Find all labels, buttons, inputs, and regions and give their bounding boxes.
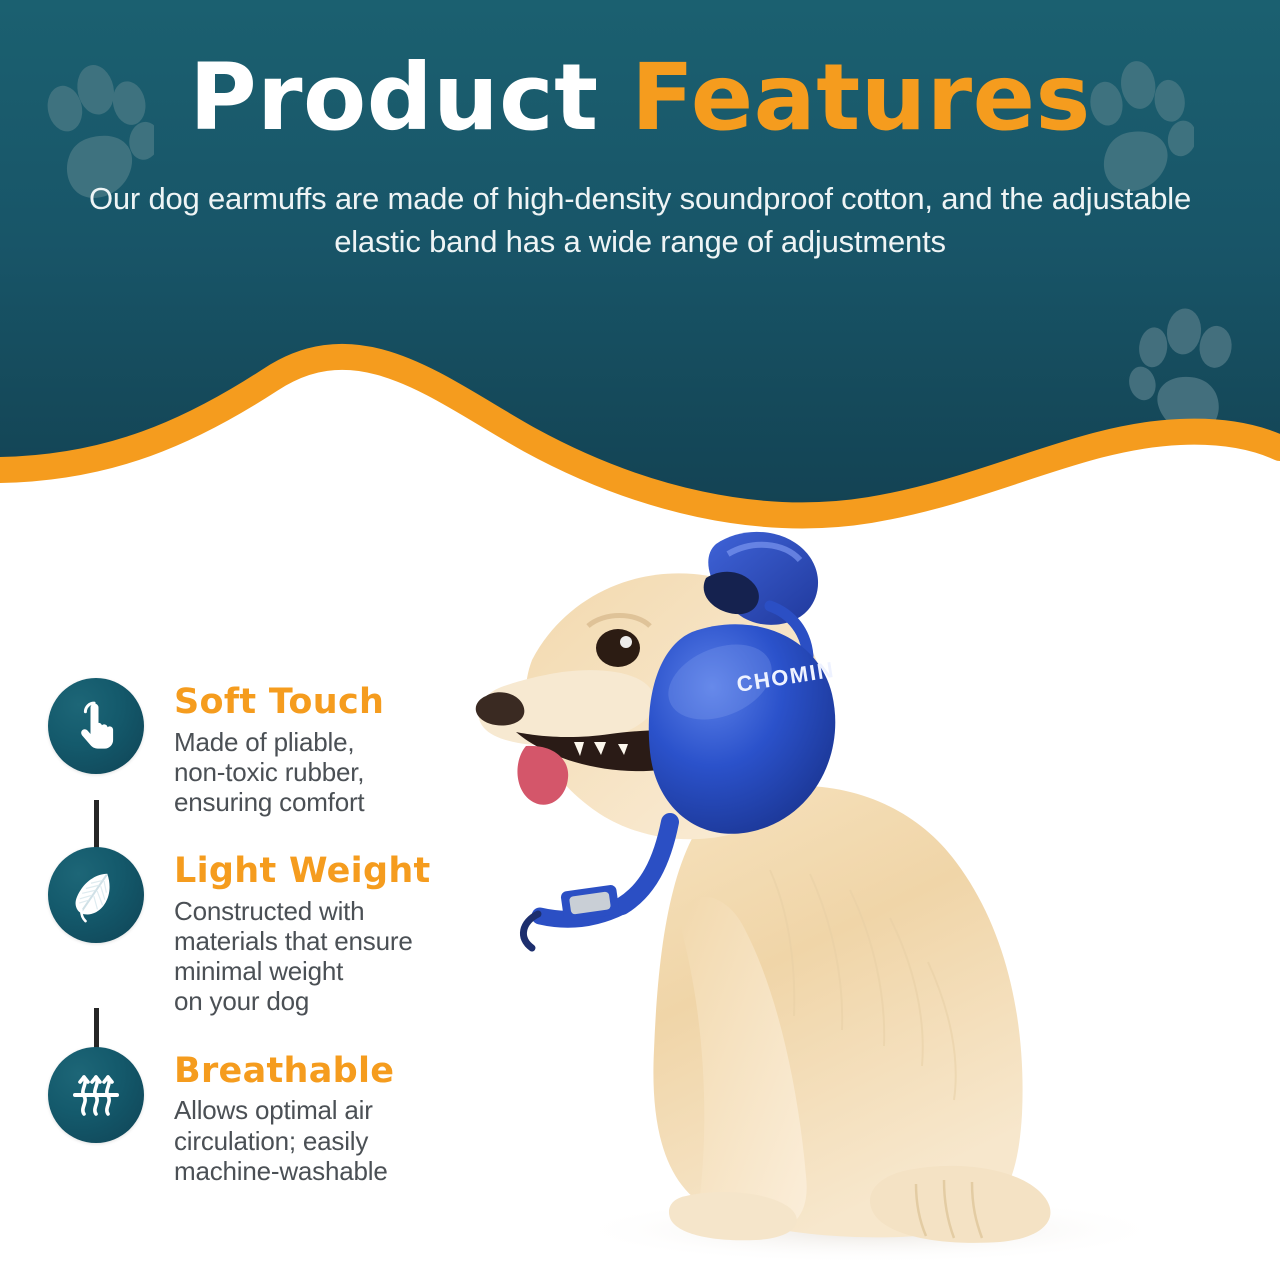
- feature-list: Soft Touch Made of pliable, non-toxic ru…: [48, 678, 568, 1186]
- feature-title: Breathable: [174, 1053, 394, 1090]
- title-word-product: Product: [189, 44, 598, 151]
- feature-item-light-weight: Light Weight Constructed with materials …: [48, 847, 568, 1016]
- page-title: Product Features: [0, 52, 1280, 144]
- product-features-infographic: Product Features Our dog earmuffs are ma…: [0, 0, 1280, 1280]
- header-subtitle: Our dog earmuffs are made of high-densit…: [50, 178, 1230, 264]
- feature-text: Breathable Allows optimal air circulatio…: [174, 1047, 394, 1186]
- airflow-icon: [69, 1068, 123, 1122]
- tap-hand-icon: [70, 700, 122, 752]
- feature-item-soft-touch: Soft Touch Made of pliable, non-toxic ru…: [48, 678, 568, 817]
- feature-description: Allows optimal air circulation; easily m…: [174, 1095, 394, 1185]
- feature-title: Light Weight: [174, 853, 431, 890]
- feature-item-breathable: Breathable Allows optimal air circulatio…: [48, 1047, 568, 1186]
- dog-eye-highlight: [620, 636, 632, 648]
- feature-icon-circle: [48, 847, 144, 943]
- feature-text: Light Weight Constructed with materials …: [174, 847, 431, 1016]
- product-photo-dog-with-earmuffs: CHOMIN: [470, 470, 1280, 1280]
- feather-icon: [68, 867, 124, 923]
- feature-title: Soft Touch: [174, 684, 384, 721]
- earmuff-chin-strap: [622, 822, 670, 906]
- feature-description: Constructed with materials that ensure m…: [174, 896, 431, 1017]
- feature-description: Made of pliable, non-toxic rubber, ensur…: [174, 727, 384, 817]
- feature-text: Soft Touch Made of pliable, non-toxic ru…: [174, 678, 384, 817]
- title-word-features: Features: [631, 44, 1091, 151]
- feature-icon-circle: [48, 678, 144, 774]
- dog-eye: [596, 629, 640, 667]
- feature-icon-circle: [48, 1047, 144, 1143]
